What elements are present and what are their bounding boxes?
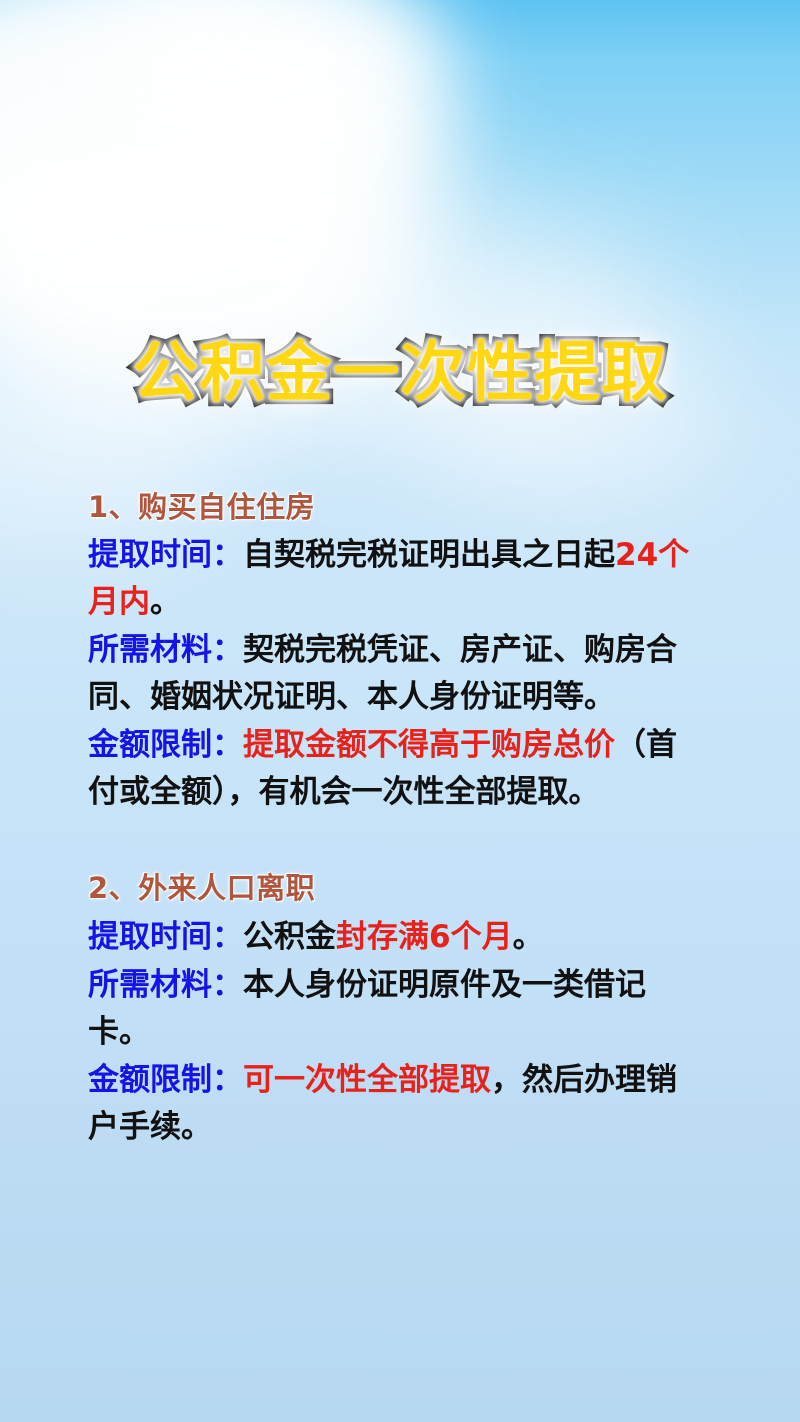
info-row-label: 提取时间： — [88, 537, 243, 573]
info-row-text: 可一次性全部提取 — [243, 1062, 491, 1098]
section-heading: 2、外来人口离职 — [88, 869, 704, 907]
info-row-label: 金额限制： — [88, 1062, 243, 1098]
info-row-label: 所需材料： — [88, 967, 243, 1003]
info-row-text: 。 — [513, 919, 544, 955]
info-row-text: 封存满6个月 — [336, 919, 513, 955]
info-row-text: 。 — [150, 584, 181, 620]
info-row-label: 提取时间： — [88, 919, 243, 955]
info-row: 所需材料：本人身份证明原件及一类借记卡。 — [88, 962, 704, 1055]
info-row-label: 所需材料： — [88, 632, 243, 668]
info-row: 提取时间：自契税完税证明出具之日起24个月内。 — [88, 532, 704, 625]
title-container: 公积金一次性提取 — [0, 296, 800, 450]
content-section: 1、购买自住住房提取时间：自契税完税证明出具之日起24个月内。所需材料：契税完税… — [88, 488, 704, 815]
info-row-text: 自契税完税证明出具之日起 — [243, 537, 615, 573]
content-section: 2、外来人口离职提取时间：公积金封存满6个月。所需材料：本人身份证明原件及一类借… — [88, 869, 704, 1150]
poster-canvas: 公积金一次性提取 1、购买自住住房提取时间：自契税完税证明出具之日起24个月内。… — [0, 0, 800, 1422]
poster-title: 公积金一次性提取 — [132, 340, 668, 406]
cloud-shape — [0, 0, 450, 340]
section-heading: 1、购买自住住房 — [88, 488, 704, 526]
cloud-shape — [110, 0, 440, 160]
info-row-text: 公积金 — [243, 919, 336, 955]
info-row: 所需材料：契税完税凭证、房产证、购房合同、婚姻状况证明、本人身份证明等。 — [88, 627, 704, 720]
content-body: 1、购买自住住房提取时间：自契税完税证明出具之日起24个月内。所需材料：契税完税… — [88, 488, 704, 1150]
info-row: 金额限制：提取金额不得高于购房总价（首付或全额），有机会一次性全部提取。 — [88, 722, 704, 815]
info-row-text: 提取金额不得高于购房总价 — [243, 727, 615, 763]
info-row: 提取时间：公积金封存满6个月。 — [88, 914, 704, 961]
info-row-label: 金额限制： — [88, 727, 243, 763]
info-row: 金额限制：可一次性全部提取，然后办理销户手续。 — [88, 1057, 704, 1150]
